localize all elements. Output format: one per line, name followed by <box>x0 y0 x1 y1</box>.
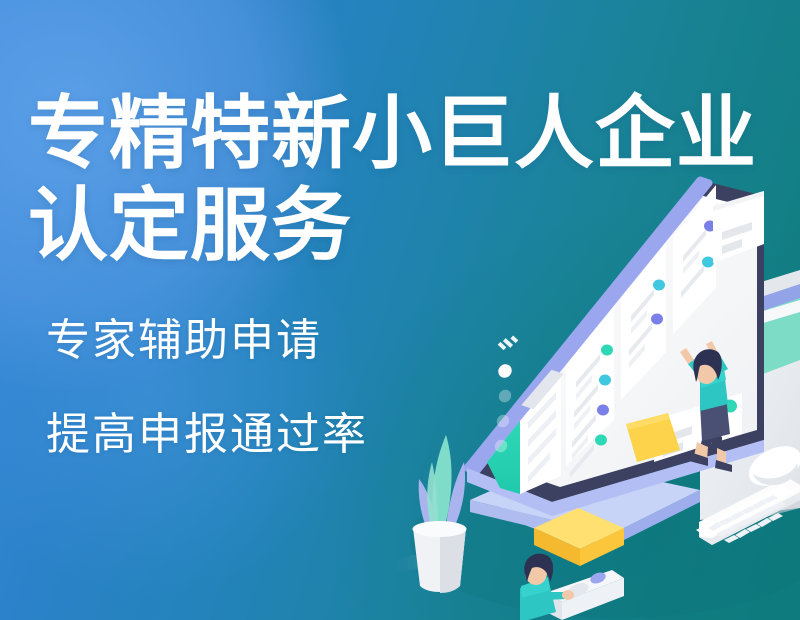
text-block: 专精特新小巨人企业 认定服务 专家辅助申请 提高申报通过率 <box>0 0 800 620</box>
promo-banner: 专精特新小巨人企业 认定服务 专家辅助申请 提高申报通过率 <box>0 0 800 620</box>
page-title: 专精特新小巨人企业 认定服务 <box>28 88 798 272</box>
subtitle-improve-approval-rate: 提高申报通过率 <box>46 412 368 458</box>
subtitle-expert-assisted-application: 专家辅助申请 <box>46 318 322 364</box>
